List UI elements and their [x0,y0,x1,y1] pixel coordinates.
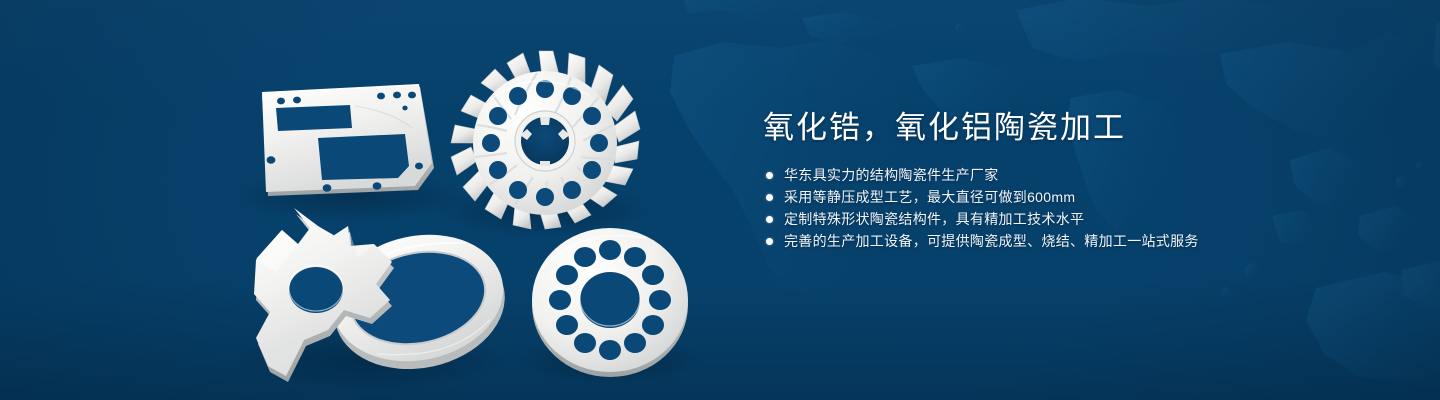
list-item-label: 完善的生产加工设备，可提供陶瓷成型、烧结、精加工一站式服务 [784,230,1199,252]
bullet-dot-icon [766,194,773,201]
list-item-label: 定制特殊形状陶瓷结构件，具有精加工技术水平 [784,208,1084,230]
list-item: 完善的生产加工设备，可提供陶瓷成型、烧结、精加工一站式服务 [766,230,1363,252]
list-item: 华东具实力的结构陶瓷件生产厂家 [766,164,1363,186]
list-item: 采用等静压成型工艺，最大直径可做到600mm [766,186,1363,208]
list-item-label: 华东具实力的结构陶瓷件生产厂家 [784,164,999,186]
bullet-dot-icon [766,216,773,223]
feature-list: 华东具实力的结构陶瓷件生产厂家 采用等静压成型工艺，最大直径可做到600mm 定… [763,164,1363,252]
hero-banner: 氧化锆，氧化铝陶瓷加工 华东具实力的结构陶瓷件生产厂家 采用等静压成型工艺，最大… [0,0,1440,400]
hero-text-block: 氧化锆，氧化铝陶瓷加工 华东具实力的结构陶瓷件生产厂家 采用等静压成型工艺，最大… [763,108,1363,252]
bullet-dot-icon [766,238,773,245]
list-item-label: 采用等静压成型工艺，最大直径可做到600mm [784,186,1075,208]
page-title: 氧化锆，氧化铝陶瓷加工 [763,108,1363,148]
list-item: 定制特殊形状陶瓷结构件，具有精加工技术水平 [766,208,1363,230]
bullet-dot-icon [766,172,773,179]
